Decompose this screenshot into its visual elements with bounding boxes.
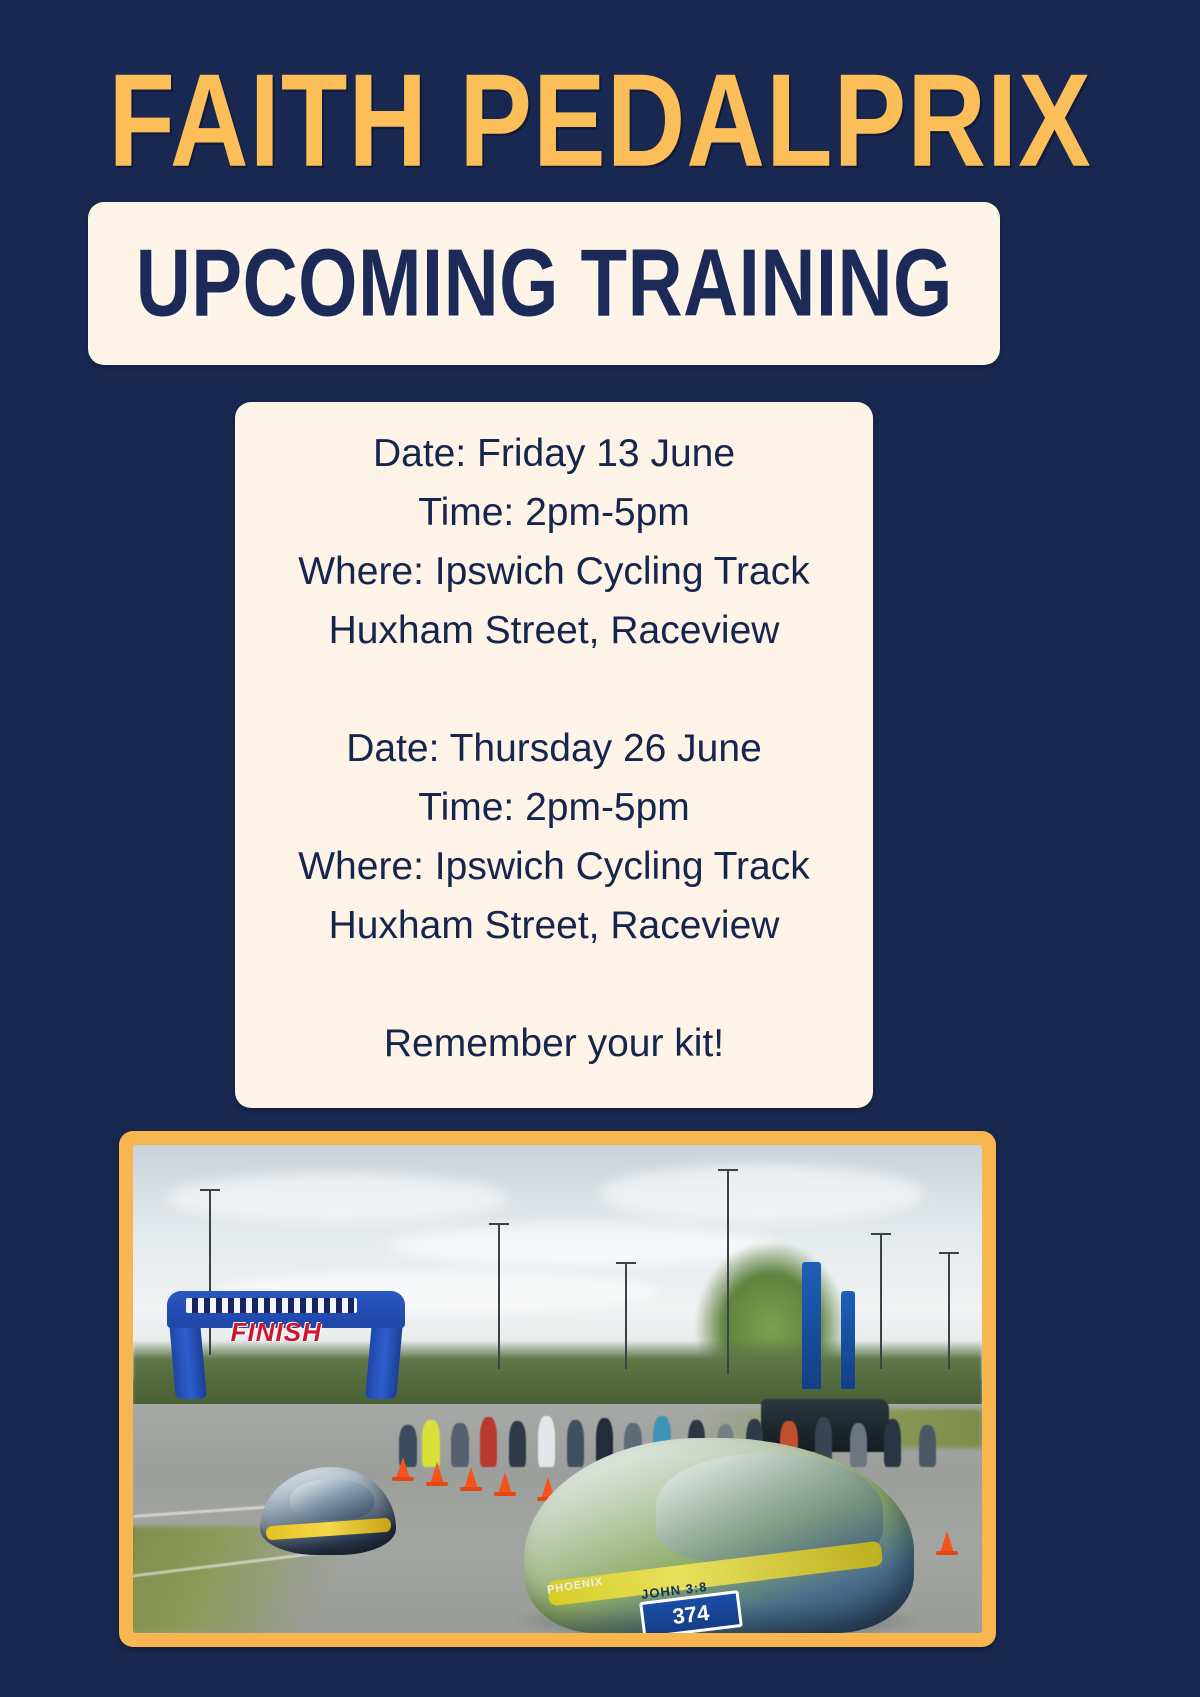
light-pole-6 — [948, 1252, 950, 1369]
race-photo: FINISH — [133, 1145, 982, 1633]
person — [509, 1421, 526, 1467]
event-flag-1 — [802, 1262, 821, 1389]
traffic-cone — [430, 1462, 444, 1484]
person — [884, 1419, 901, 1467]
cloud-3 — [600, 1165, 923, 1224]
person — [422, 1420, 439, 1467]
poster-root: FAITH PEDALPRIX UPCOMING TRAINING Date: … — [0, 0, 1200, 1697]
detail-line-address-1: Huxham Street, Raceview — [249, 601, 859, 660]
traffic-cone — [396, 1457, 410, 1479]
person — [850, 1423, 867, 1467]
light-pole-4 — [727, 1169, 729, 1374]
detail-line-address-2: Huxham Street, Raceview — [249, 896, 859, 955]
detail-line-reminder: Remember your kit! — [249, 1014, 859, 1073]
person — [919, 1425, 936, 1467]
detail-spacer-1 — [249, 660, 859, 719]
person — [567, 1420, 584, 1467]
details-panel: Date: Friday 13 June Time: 2pm-5pm Where… — [235, 402, 873, 1108]
detail-spacer-2 — [249, 955, 859, 1014]
event-flag-2 — [841, 1291, 855, 1389]
light-pole-5 — [880, 1233, 882, 1370]
finish-arch: FINISH — [167, 1291, 405, 1398]
subtitle-banner: UPCOMING TRAINING — [88, 202, 1000, 365]
person — [538, 1416, 555, 1468]
detail-line-where-1: Where: Ipswich Cycling Track — [249, 542, 859, 601]
person — [451, 1423, 468, 1467]
detail-line-date-1: Date: Friday 13 June — [249, 424, 859, 483]
detail-line-date-2: Date: Thursday 26 June — [249, 719, 859, 778]
person — [480, 1417, 497, 1467]
light-pole-2 — [498, 1223, 500, 1369]
page-title: FAITH PEDALPRIX — [108, 54, 1091, 186]
traffic-cone — [464, 1467, 478, 1489]
cloud-1 — [167, 1174, 507, 1223]
light-pole-3 — [625, 1262, 627, 1369]
poster-title-wrap: FAITH PEDALPRIX — [0, 54, 1200, 170]
detail-line-time-1: Time: 2pm-5pm — [249, 483, 859, 542]
traffic-cone — [940, 1531, 954, 1553]
traffic-cone — [498, 1472, 512, 1494]
hpv-stripe — [265, 1517, 391, 1540]
detail-line-time-2: Time: 2pm-5pm — [249, 778, 859, 837]
photo-frame: FINISH — [119, 1131, 996, 1647]
finish-arch-text: FINISH — [210, 1307, 343, 1356]
hpv-canopy — [290, 1479, 374, 1519]
subtitle-text: UPCOMING TRAINING — [135, 236, 952, 331]
detail-line-where-2: Where: Ipswich Cycling Track — [249, 837, 859, 896]
